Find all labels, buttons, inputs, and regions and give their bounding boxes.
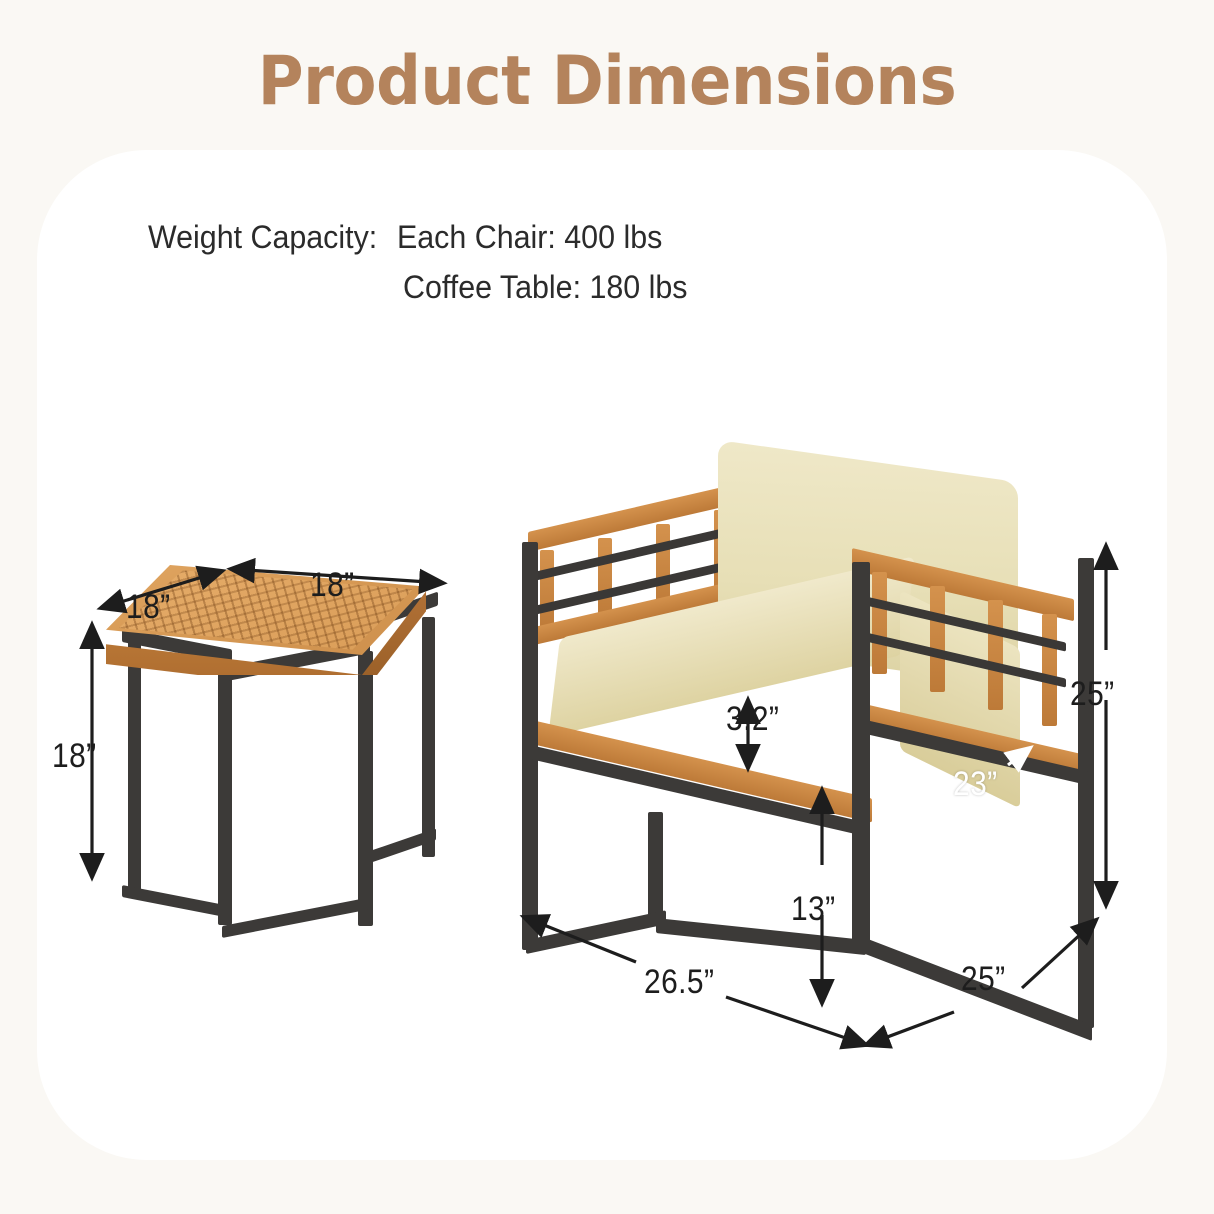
chair-frame-left-upright [522, 542, 538, 802]
dimension-label-table-height: 18” [52, 737, 97, 776]
chair-leg-front-right [1078, 910, 1094, 1028]
chair-base-runner-left [526, 910, 666, 954]
dimension-label-table-width: 18” [310, 566, 355, 605]
chair-right-slat-1 [872, 572, 887, 674]
dimension-label-chair-depth: 25” [961, 960, 1006, 999]
chair-right-slat-3 [988, 600, 1003, 710]
chair-left-slat-1 [540, 550, 554, 632]
dimension-label-chair-cushion-thickness: 3.2” [726, 700, 779, 739]
table-leg-back-left [128, 631, 141, 893]
dimension-label-chair-width: 26.5” [644, 963, 714, 1002]
table-stretcher-left [122, 885, 230, 918]
chair-right-slat-2 [930, 586, 945, 692]
chair-leg-mid [648, 812, 663, 924]
weight-capacity-table: Coffee Table: 180 lbs [403, 262, 688, 312]
chair-leg-back-left [522, 796, 538, 950]
dimension-label-chair-arm-depth: 23” [953, 765, 998, 804]
weight-capacity-block: Weight Capacity: Each Chair: 400 lbs Cof… [148, 212, 703, 312]
table-leg-front-left [218, 663, 232, 925]
dimension-label-chair-total-height: 25” [1070, 675, 1115, 714]
chair-illustration [500, 420, 1120, 1060]
chair-frame-right-upright [1078, 558, 1094, 918]
table-leg-front-right [358, 651, 373, 926]
chair-right-slat-4 [1042, 614, 1057, 726]
dimension-label-chair-seat-height: 13” [791, 890, 836, 929]
table-leg-back-right [422, 617, 435, 857]
chair-frame-front-upright [852, 562, 870, 944]
table-stretcher-front [222, 898, 368, 938]
page-title: Product Dimensions [49, 42, 1166, 121]
dimension-label-table-depth: 18” [126, 588, 171, 627]
infographic-root: Product Dimensions Weight Capacity: Each… [0, 0, 1214, 1214]
weight-capacity-values: Each Chair: 400 lbs Coffee Table: 180 lb… [397, 212, 702, 312]
weight-capacity-chair: Each Chair: 400 lbs [397, 212, 687, 262]
weight-capacity-label: Weight Capacity: [148, 212, 377, 262]
